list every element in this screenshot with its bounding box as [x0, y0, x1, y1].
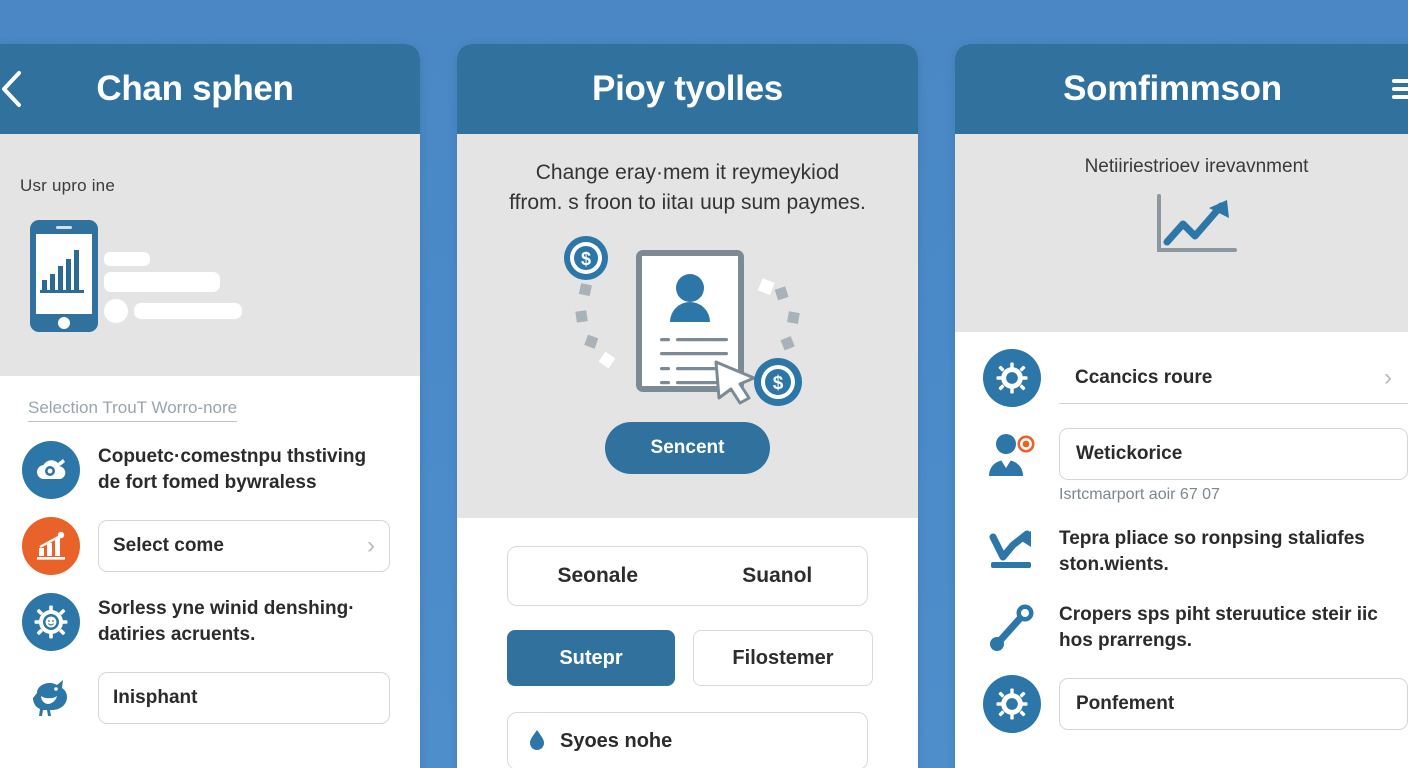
center-panel-title: Pioy tyolles — [592, 69, 783, 109]
growth-arrow-chart-icon — [955, 192, 1408, 262]
right-hero: Netiiriestrioev irevavnment — [955, 134, 1408, 332]
list-item[interactable]: Sorless yne winid denshing· datiries acr… — [0, 584, 420, 660]
center-hero-caption-line1: Change eray·mem it reymeykiod — [493, 158, 882, 188]
chevron-left-icon — [0, 69, 25, 109]
settings-field-label: Ccancics roure — [1075, 367, 1212, 389]
segmented-control[interactable]: Seonale Suanol — [507, 546, 868, 606]
gear-icon — [983, 349, 1041, 407]
panel-left: Chan sphen Usr upro ine — [0, 44, 420, 768]
document-person-coins-illustration: $ $ — [457, 226, 918, 416]
segment-right[interactable]: Suanol — [688, 564, 868, 588]
right-body: Ccancics roure › Wetickorice Isrtcmarpor — [955, 332, 1408, 742]
panel-right: Somfimmson Netiiriestrioev irevavnment — [955, 44, 1408, 768]
left-panel-title: Chan sphen — [96, 69, 293, 109]
note-field[interactable]: Syoes nohe — [507, 712, 868, 768]
menu-button[interactable] — [1386, 69, 1408, 109]
bar-chart-icon — [22, 517, 80, 575]
list-item-label: Copuetc·comestnpu thstiving de fort fome… — [98, 444, 390, 496]
list-item[interactable]: Select come › — [0, 508, 420, 584]
note-field-label: Syoes nohe — [560, 730, 672, 753]
list-item[interactable]: Ponfement — [955, 666, 1408, 742]
left-hero: Usr upro ine — [0, 134, 420, 376]
right-hero-caption: Netiiriestrioev irevavnment — [955, 156, 1408, 178]
link-node-icon — [983, 599, 1041, 657]
confirm-field[interactable]: Ponfement — [1059, 678, 1408, 730]
list-item[interactable]: Cropers sps piht steruutice steir iic ho… — [955, 590, 1408, 666]
secondary-button[interactable]: Filostemer — [693, 630, 873, 686]
list-item[interactable]: Ccancics roure › — [955, 340, 1408, 416]
svg-text:$: $ — [580, 249, 590, 269]
segment-left[interactable]: Seonale — [508, 564, 688, 588]
select-field-label: Select come — [113, 535, 224, 557]
list-item[interactable]: Inisphant — [0, 660, 420, 736]
center-body: Seonale Suanol Sutepr Filostemer Syoes n… — [457, 518, 918, 768]
user-field[interactable]: Wetickorice — [1059, 428, 1408, 480]
left-hero-caption: Usr upro ine — [20, 176, 420, 196]
phone-chart-illustration — [20, 216, 420, 336]
list-item-label: Sorless yne winid denshing· datiries acr… — [98, 596, 390, 648]
list-item[interactable]: Wetickorice — [955, 416, 1408, 492]
user-field-label: Wetickorice — [1076, 443, 1182, 465]
list-item-label: Cropers sps piht steruutice steir iic ho… — [1059, 602, 1408, 654]
left-body: Selection TrouT Worro-nore Copuetc·comes… — [0, 376, 420, 736]
center-hero: Change eray·mem it reymeykiod ffrom. s f… — [457, 134, 918, 518]
cloud-user-icon — [22, 441, 80, 499]
center-hero-caption: Change eray·mem it reymeykiod ffrom. s f… — [457, 158, 918, 218]
droplet-icon — [528, 729, 546, 753]
right-panel-title: Somfimmson — [1063, 69, 1282, 109]
list-item[interactable]: Tepra pliace so ronpsing staliɑfes ston.… — [955, 514, 1408, 590]
chevron-right-icon: › — [1384, 364, 1392, 392]
list-item[interactable]: Copuetc·comestnpu thstiving de fort fome… — [0, 432, 420, 508]
right-panel-header: Somfimmson — [955, 44, 1408, 134]
center-hero-caption-line2: ffrom. s froon to iitaı uup sum paymes. — [493, 188, 882, 218]
section-link[interactable]: Selection TrouT Worro-nore — [28, 398, 237, 422]
trend-arrow-icon — [983, 523, 1041, 581]
button-row: Sutepr Filostemer — [507, 630, 868, 686]
center-panel-header: Pioy tyolles — [457, 44, 918, 134]
gear-icon — [983, 675, 1041, 733]
user-badge-icon — [983, 425, 1041, 483]
bird-field-label: Inisphant — [113, 687, 197, 709]
send-button[interactable]: Sencent — [605, 422, 771, 474]
list-item-label: Tepra pliace so ronpsing staliɑfes ston.… — [1059, 526, 1408, 578]
settings-field[interactable]: Ccancics roure › — [1059, 352, 1408, 404]
confirm-field-label: Ponfement — [1076, 693, 1174, 715]
bird-field[interactable]: Inisphant — [98, 672, 390, 724]
bird-icon — [22, 669, 80, 727]
left-panel-header: Chan sphen — [0, 44, 420, 134]
user-field-hint: Isrtcmarport aoir 67 07 — [955, 486, 1408, 514]
hamburger-menu-icon — [1391, 77, 1408, 101]
chevron-right-icon: › — [367, 532, 375, 560]
svg-text:$: $ — [772, 373, 783, 394]
primary-button[interactable]: Sutepr — [507, 630, 675, 686]
select-field[interactable]: Select come › — [98, 520, 390, 572]
back-button[interactable] — [0, 69, 32, 109]
gear-smiley-icon — [22, 593, 80, 651]
panel-center: Pioy tyolles Change eray·mem it reymeyki… — [457, 44, 918, 768]
